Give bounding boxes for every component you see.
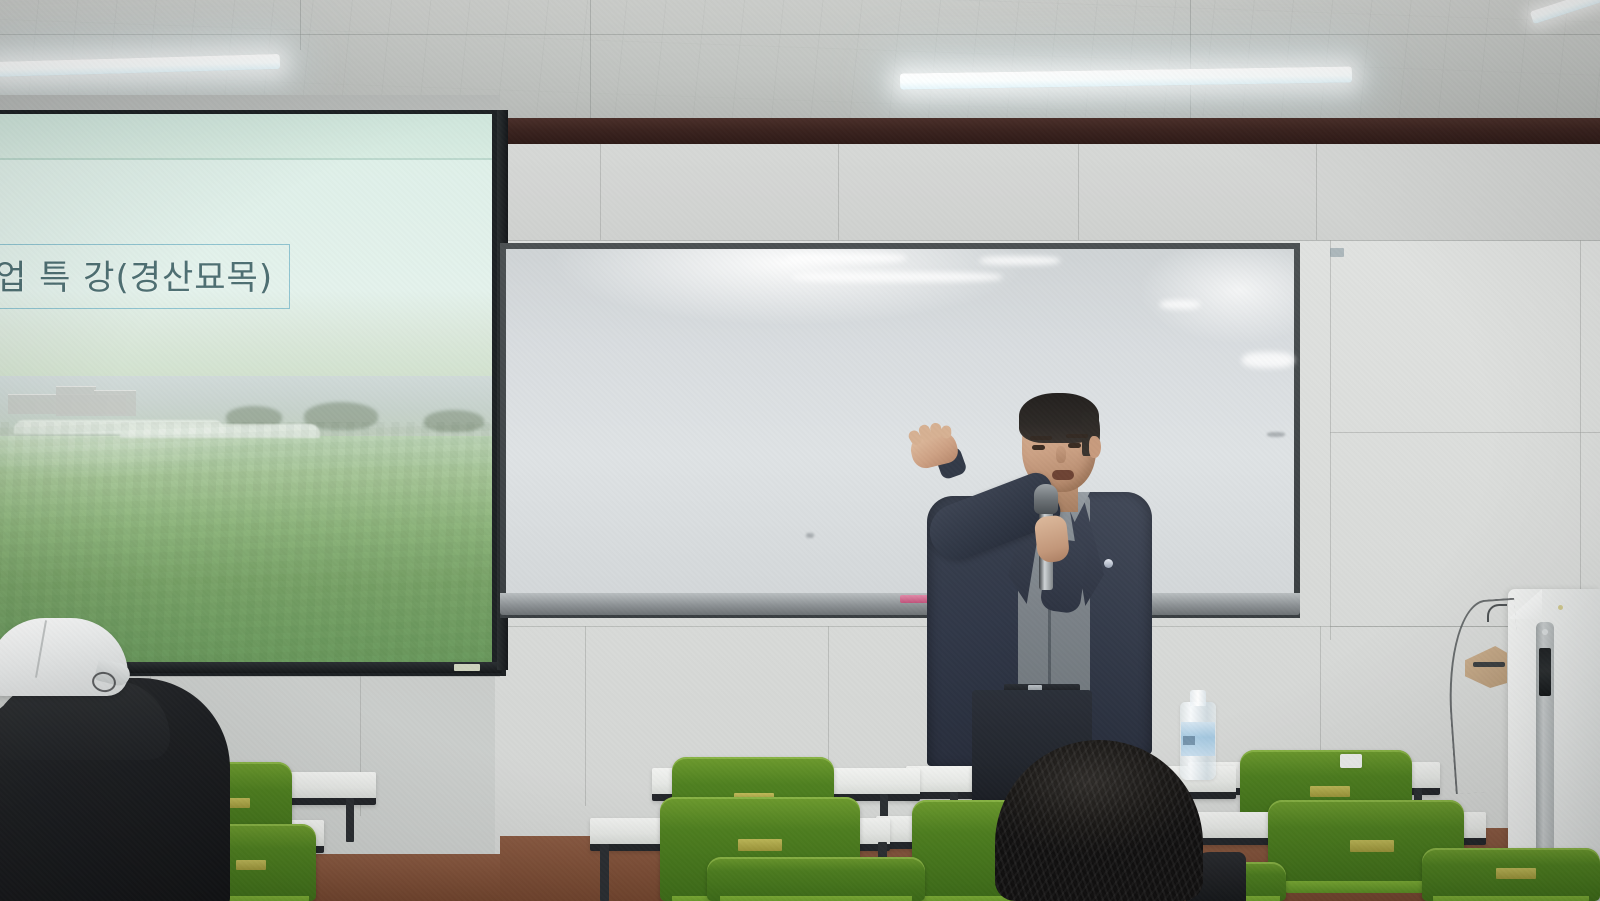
- air-purifier-vent: [1539, 648, 1551, 696]
- whiteboard-glare: [792, 272, 1002, 282]
- slide-body: 업 특 강(경산묘목) 산시농업기술센터 박 철 호: [0, 160, 492, 662]
- chair-row4-c[interactable]: [1422, 848, 1600, 901]
- ceiling-seam: [1190, 0, 1191, 118]
- wall-panel-seam: [1078, 144, 1079, 240]
- whiteboard-mark: [806, 533, 814, 538]
- lecturer-brow-left: [1030, 436, 1052, 440]
- air-purifier-led-icon: [1542, 629, 1548, 635]
- ceiling-seam: [590, 0, 591, 118]
- wood-trim-upper: [495, 118, 1600, 144]
- cable-hook: [1487, 604, 1507, 622]
- air-purifier-indicator-icon: [1558, 605, 1563, 610]
- wall-sticker-small-icon: [1330, 248, 1344, 257]
- whiteboard-glare: [1242, 352, 1294, 368]
- wall-panel-seam: [1580, 240, 1581, 640]
- chair-label-sticker: [1496, 868, 1536, 879]
- wall-panel-seam: [838, 144, 839, 240]
- whiteboard-mark: [1267, 432, 1285, 437]
- lecturer-brow-right: [1066, 434, 1088, 438]
- slide-photo-building: [56, 386, 96, 416]
- paper-cup: [1340, 754, 1362, 768]
- wall-mount-bracket-bar: [1473, 662, 1505, 667]
- wall-panel-seam: [1330, 240, 1331, 640]
- chair-label-sticker: [1310, 786, 1350, 797]
- lecture-room-photo: 업 특 강(경산묘목) 산시농업기술센터 박 철 호: [0, 0, 1600, 901]
- ceiling-seam: [300, 0, 301, 50]
- projection-screen-pull-tab[interactable]: [454, 664, 480, 671]
- wall-panel-seam: [1316, 144, 1317, 240]
- table-leg: [346, 798, 354, 842]
- wall-panel-seam: [1330, 432, 1600, 433]
- projection-screen-surface: 업 특 강(경산묘목) 산시농업기술센터 박 철 호: [0, 114, 492, 662]
- wall-panel-seam: [585, 626, 586, 806]
- water-bottle-neck: [1190, 690, 1206, 706]
- microphone-head: [1034, 484, 1058, 514]
- chair-row2-c[interactable]: [707, 857, 925, 901]
- lecturer-mouth: [1052, 470, 1074, 480]
- ceiling-seam: [0, 34, 1600, 35]
- lapel-pin-icon: [1104, 559, 1113, 568]
- lecturer-ear: [1089, 436, 1101, 458]
- slide-photo-building: [94, 390, 136, 416]
- wall-panel-band-upper: [495, 144, 1600, 241]
- chair-label-sticker: [1350, 840, 1394, 852]
- lecturer-nose: [1056, 446, 1066, 463]
- projection-screen: 업 특 강(경산묘목) 산시농업기술센터 박 철 호: [0, 110, 506, 676]
- slide-title: 업 특 강(경산묘목): [0, 244, 290, 309]
- whiteboard-glare: [1160, 300, 1200, 309]
- finger: [941, 426, 951, 439]
- slide-header-band: [0, 114, 492, 160]
- table-leg: [600, 844, 609, 901]
- chair-label-sticker: [236, 860, 266, 870]
- lecturer-right-hand: [1034, 514, 1071, 563]
- wall-panel-seam: [600, 144, 601, 240]
- chair-label-sticker: [738, 839, 782, 851]
- lecturer-eye-right: [1068, 443, 1081, 448]
- whiteboard-glare: [786, 253, 906, 263]
- whiteboard-glare: [980, 256, 1060, 265]
- water-bottle-label-mark: [1183, 736, 1195, 745]
- lecturer-eye-left: [1032, 445, 1045, 450]
